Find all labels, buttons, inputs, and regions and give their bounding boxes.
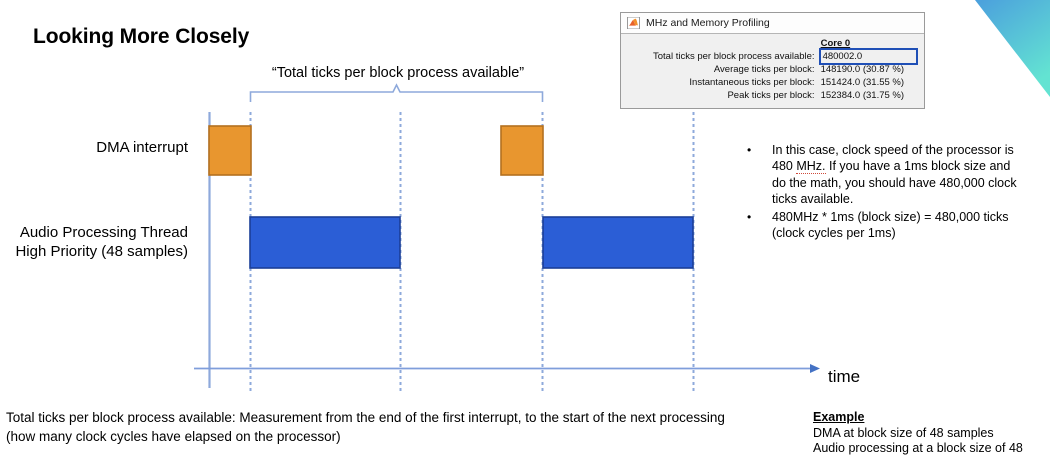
time-axis-label: time [828,367,860,387]
profiler-window-title: MHz and Memory Profiling [646,17,770,29]
dma-block-2 [501,126,543,175]
explanation-bullet-list: • In this case, clock speed of the proce… [740,142,1020,242]
table-row: Average ticks per block: 148190.0 (30.87… [629,63,916,76]
profiler-metrics-table: Core 0 Total ticks per block process ava… [629,37,916,102]
bullet-1-misspelled: MHz. [796,159,825,174]
row-label-dma-interrupt: DMA interrupt [0,138,188,157]
page-title: Looking More Closely [33,25,249,49]
table-row: Instantaneous ticks per block: 151424.0 … [629,76,916,89]
example-heading: Example [813,410,1048,426]
metric-label-instantaneous-ticks: Instantaneous ticks per block: [629,76,821,89]
metric-value-total-ticks: 480002.0 [821,50,916,63]
table-row: Total ticks per block process available:… [629,50,916,63]
bullet-dot-icon: • [747,142,751,158]
table-header-row: Core 0 [629,37,916,50]
bullet-2-text: 480MHz * 1ms (block size) = 480,000 tick… [772,210,1009,240]
matlab-membrane-icon [627,17,640,29]
metric-value-peak-ticks: 152384.0 (31.75 %) [821,89,916,102]
list-item: • 480MHz * 1ms (block size) = 480,000 ti… [740,209,1020,242]
table-row: Peak ticks per block: 152384.0 (31.75 %) [629,89,916,102]
example-block: Example DMA at block size of 48 samples … [813,410,1048,457]
list-item: • In this case, clock speed of the proce… [740,142,1020,208]
slide-canvas: Looking More Closely “Total ticks per bl… [0,0,1050,460]
metric-label-average-ticks: Average ticks per block: [629,63,821,76]
metric-value-instantaneous-ticks: 151424.0 (31.55 %) [821,76,916,89]
metric-label-total-ticks: Total ticks per block process available: [629,50,821,63]
example-line-1: DMA at block size of 48 samples [813,426,1048,442]
audio-block-2 [543,217,693,268]
example-line-2: Audio processing at a block size of 48 [813,441,1048,457]
corner-decoration-icon [975,0,1050,97]
mhz-memory-profiling-window[interactable]: MHz and Memory Profiling Core 0 Total ti… [620,12,925,109]
bottom-caption: Total ticks per block process available:… [6,408,746,446]
bullet-dot-icon: • [747,209,751,225]
measurement-bracket [251,85,543,102]
profiler-body: Core 0 Total ticks per block process ava… [621,34,924,108]
column-header-core0: Core 0 [821,37,916,50]
profiler-titlebar[interactable]: MHz and Memory Profiling [621,13,924,34]
metric-value-average-ticks: 148190.0 (30.87 %) [821,63,916,76]
row-label-audio-line-1: Audio Processing Thread [0,223,188,242]
dma-block-1 [209,126,251,175]
row-label-audio-line-2: High Priority (48 samples) [0,242,188,261]
row-label-audio-processing: Audio Processing Thread High Priority (4… [0,223,188,261]
metric-label-peak-ticks: Peak ticks per block: [629,89,821,102]
audio-block-1 [250,217,400,268]
bracket-caption: “Total ticks per block process available… [248,65,548,81]
header-spacer [629,37,821,50]
time-axis-arrowhead [810,364,820,373]
